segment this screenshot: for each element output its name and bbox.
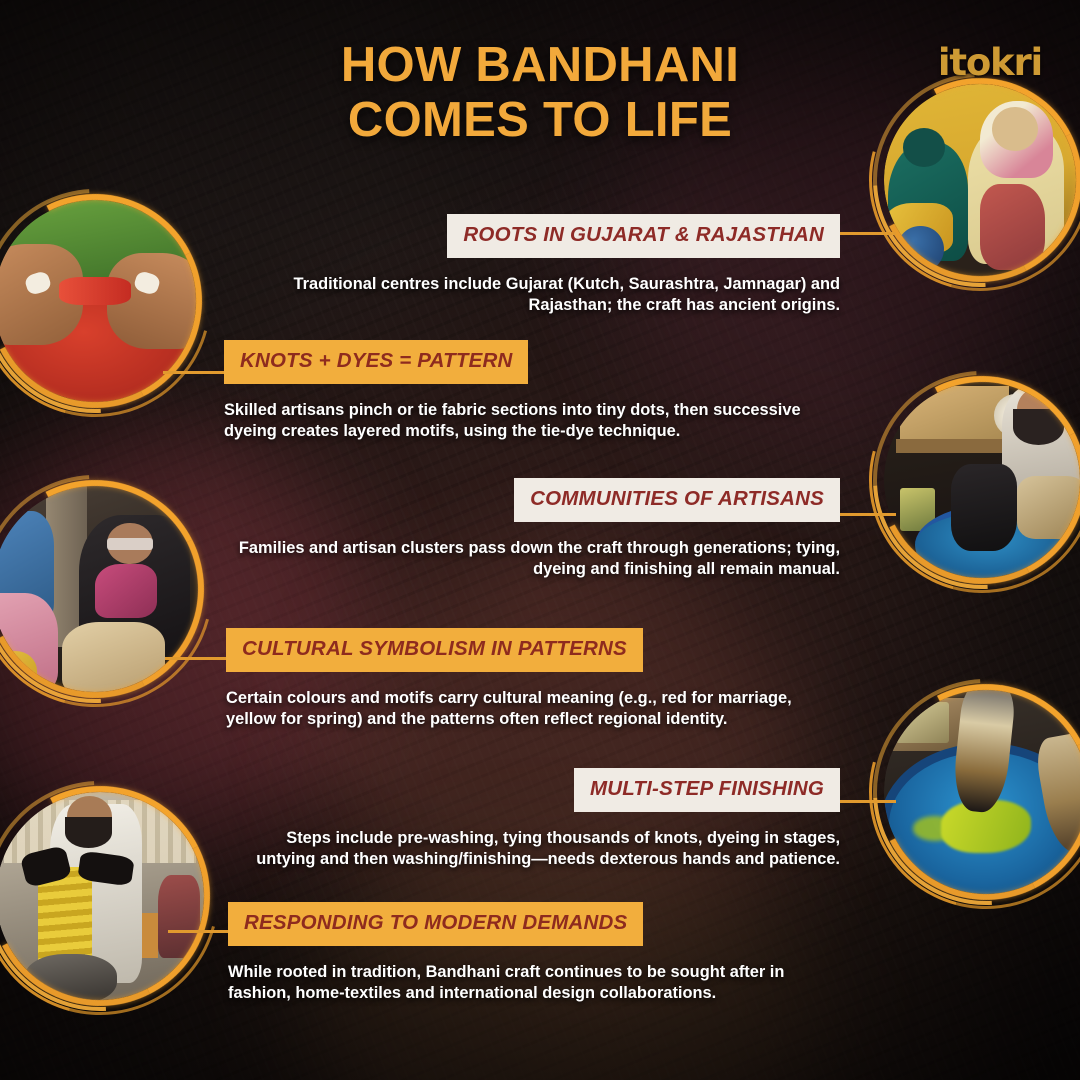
photo-yellow-fabric-lift-image <box>0 792 204 1000</box>
title-line-2: COMES TO LIFE <box>0 93 1080 148</box>
brand-logo-text: itokri <box>932 40 1042 86</box>
section-symbolism-body: Certain colours and motifs carry cultura… <box>226 688 832 732</box>
section-symbolism-heading: CULTURAL SYMBOLISM IN PATTERNS <box>226 628 643 672</box>
connector-modern <box>168 930 228 933</box>
connector-communities <box>838 513 896 516</box>
brand-logo[interactable]: itokri <box>932 40 1042 86</box>
photo-blue-dye-vat <box>884 690 1080 894</box>
section-modern-heading: RESPONDING TO MODERN DEMANDS <box>228 902 643 946</box>
section-knots-heading: KNOTS + DYES = PATTERN <box>224 340 528 384</box>
photo-blue-dye-vat-image <box>884 690 1080 894</box>
section-roots-heading: ROOTS IN GUJARAT & RAJASTHAN <box>447 214 840 258</box>
section-roots-body: Traditional centres include Gujarat (Kut… <box>236 274 840 318</box>
section-symbolism: CULTURAL SYMBOLISM IN PATTERNS Certain c… <box>226 628 832 731</box>
title-line-1: HOW BANDHANI <box>341 38 739 92</box>
photo-dyer-blue-tub-image <box>884 382 1080 578</box>
infographic-poster: HOW BANDHANI COMES TO LIFE itokri <box>0 0 1080 1080</box>
section-communities-heading: COMMUNITIES OF ARTISANS <box>514 478 840 522</box>
connector-roots <box>836 232 896 235</box>
section-knots-body: Skilled artisans pinch or tie fabric sec… <box>224 400 830 444</box>
section-finishing-body: Steps include pre-washing, tying thousan… <box>234 828 840 872</box>
section-finishing: MULTI-STEP FINISHING Steps include pre-w… <box>234 768 840 871</box>
photo-dyer-blue-tub <box>884 382 1080 578</box>
section-modern: RESPONDING TO MODERN DEMANDS While roote… <box>228 902 828 1005</box>
connector-symbolism <box>165 657 227 660</box>
section-communities-body: Families and artisan clusters pass down … <box>234 538 840 582</box>
page-title: HOW BANDHANI COMES TO LIFE <box>0 38 1080 148</box>
photo-woman-black-shawl <box>0 486 198 692</box>
section-modern-body: While rooted in tradition, Bandhani craf… <box>228 962 828 1006</box>
section-knots: KNOTS + DYES = PATTERN Skilled artisans … <box>224 340 830 443</box>
connector-finishing <box>838 800 896 803</box>
photo-yellow-fabric-lift <box>0 792 204 1000</box>
section-communities: COMMUNITIES OF ARTISANS Families and art… <box>234 478 840 581</box>
photo-woman-black-shawl-image <box>0 486 198 692</box>
connector-knots <box>163 371 225 374</box>
section-finishing-heading: MULTI-STEP FINISHING <box>574 768 840 812</box>
section-roots: ROOTS IN GUJARAT & RAJASTHAN Traditional… <box>236 214 840 317</box>
